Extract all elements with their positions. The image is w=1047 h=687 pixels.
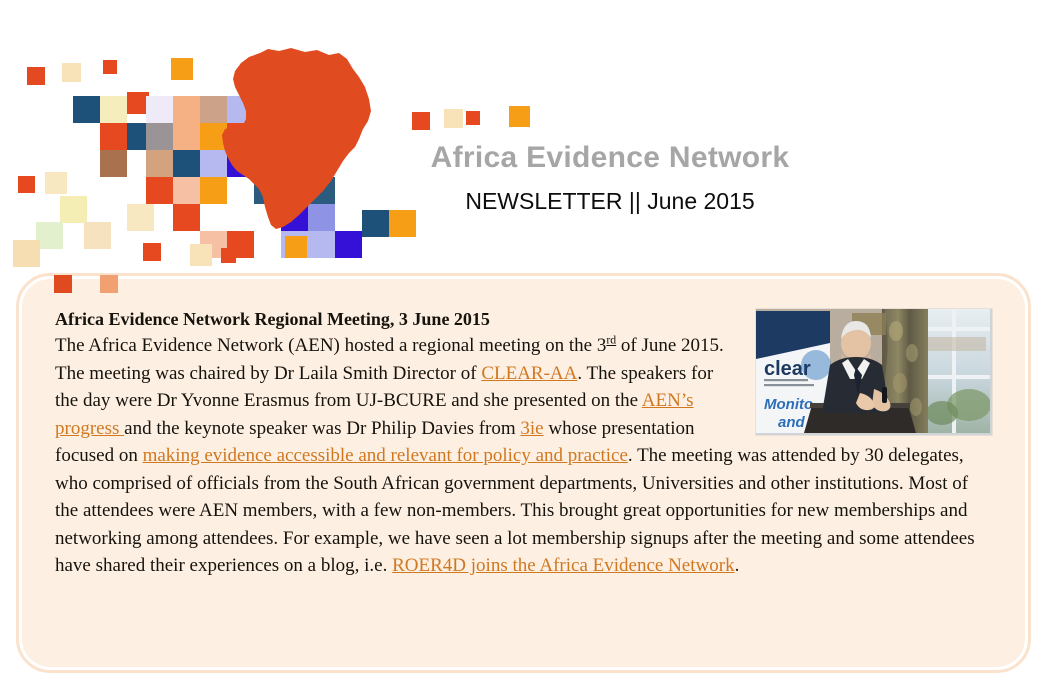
mosaic-tile	[308, 231, 335, 258]
mosaic-tile	[54, 275, 72, 293]
mosaic-tile	[173, 96, 200, 123]
svg-text:and: and	[778, 414, 806, 431]
mosaic-tile	[60, 196, 87, 223]
mosaic-tile	[146, 123, 173, 150]
article-text-4: and the keynote speaker was Dr Philip Da…	[124, 418, 520, 439]
mosaic-tile	[221, 248, 236, 263]
mosaic-tile	[100, 96, 127, 123]
mosaic-tile	[36, 222, 63, 249]
mosaic-tile	[190, 244, 212, 266]
mosaic-tile	[171, 58, 193, 80]
mosaic-tile	[146, 96, 173, 123]
page-title: Africa Evidence Network	[400, 140, 820, 176]
mosaic-tile	[127, 204, 154, 231]
mosaic-tile	[13, 240, 40, 267]
article-text-1: The Africa Evidence Network (AEN) hosted…	[55, 335, 606, 356]
newsletter-header: Africa Evidence Network NEWSLETTER || Ju…	[0, 0, 1047, 270]
article: clear Monito and Africa Evidence	[55, 308, 993, 580]
mosaic-tile	[100, 150, 127, 177]
mosaic-tile	[466, 111, 480, 125]
svg-text:Monito: Monito	[764, 396, 813, 413]
mosaic-tile	[335, 231, 362, 258]
mosaic-tile	[100, 123, 127, 150]
header-title-block: Africa Evidence Network NEWSLETTER || Ju…	[400, 140, 820, 216]
mosaic-tile	[100, 275, 118, 293]
mosaic-tile	[45, 172, 67, 194]
mosaic-tile	[173, 177, 200, 204]
mosaic-tile	[173, 204, 200, 231]
mosaic-tile	[62, 63, 81, 82]
mosaic-tile	[84, 222, 111, 249]
mosaic-tile	[143, 243, 161, 261]
mosaic-tile	[73, 96, 100, 123]
mosaic-tile	[509, 106, 530, 127]
mosaic-tile	[146, 150, 173, 177]
mosaic-tile	[444, 109, 463, 128]
africa-continent-icon	[213, 47, 373, 232]
svg-text:clear: clear	[764, 358, 811, 380]
mosaic-tile	[285, 236, 307, 258]
mosaic-tile	[27, 67, 45, 85]
newsletter-issue-line: NEWSLETTER || June 2015	[400, 186, 820, 216]
mosaic-tile	[412, 112, 430, 130]
ordinal-suffix: rd	[606, 334, 616, 347]
link-3ie[interactable]: 3ie	[520, 418, 543, 439]
mosaic-tile	[173, 123, 200, 150]
mosaic-tile	[103, 60, 117, 74]
mosaic-tile	[18, 176, 35, 193]
mosaic-tile	[173, 150, 200, 177]
mosaic-tile	[146, 177, 173, 204]
article-text-7: .	[735, 555, 740, 576]
article-panel: clear Monito and Africa Evidence	[16, 273, 1031, 673]
link-roer4d-joins-aen[interactable]: ROER4D joins the Africa Evidence Network	[392, 555, 734, 576]
link-clear-aa[interactable]: CLEAR-AA	[481, 363, 577, 384]
speaker-at-podium-photo: clear Monito and	[755, 308, 993, 436]
link-making-evidence-accessible[interactable]: making evidence accessible and relevant …	[143, 445, 628, 466]
